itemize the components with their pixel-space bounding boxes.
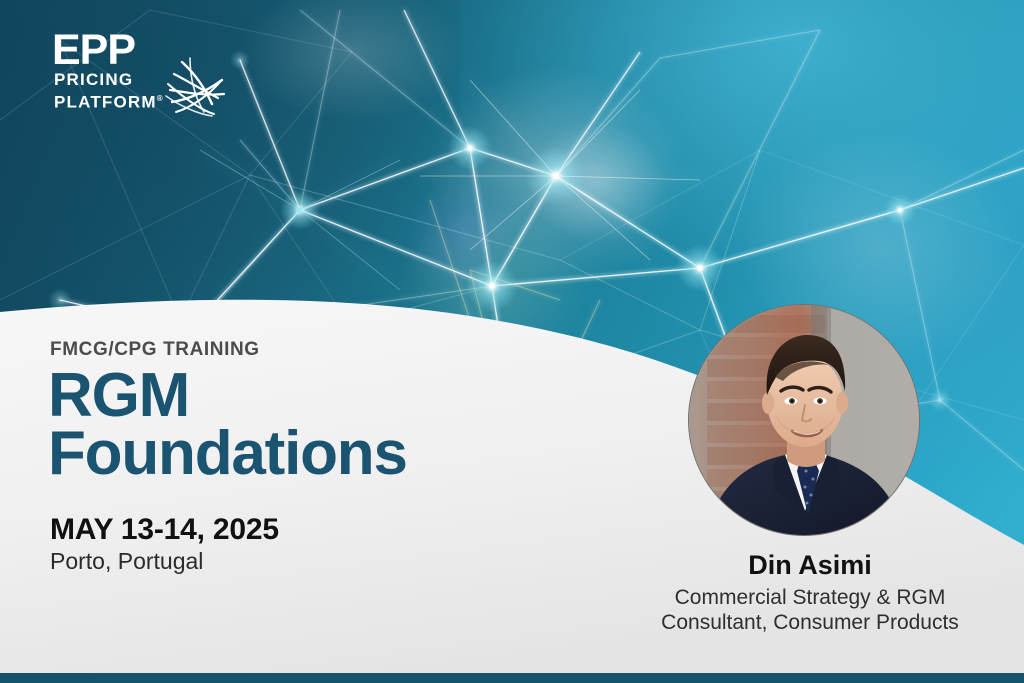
bottom-accent-bar: [0, 673, 1024, 683]
epp-pricing-platform-logo[interactable]: EPP PRICING PLATFORM®: [52, 28, 227, 110]
event-date: MAY 13-14, 2025: [50, 513, 279, 547]
speaker-avatar: [688, 304, 920, 536]
logo-subline-1: PRICING: [54, 70, 133, 89]
logo-wordmark: EPP: [52, 28, 135, 72]
logo-subline-2: PLATFORM: [54, 93, 157, 112]
speaker-role: Commercial Strategy & RGM Consultant, Co…: [625, 585, 995, 635]
title-line-1: RGM: [48, 367, 668, 425]
event-location: Porto, Portugal: [50, 548, 203, 575]
logo-subline: PRICING PLATFORM®: [54, 70, 164, 112]
wing-swoosh-icon: [160, 56, 232, 126]
speaker-name: Din Asimi: [620, 550, 1000, 581]
eyebrow-label: FMCG/CPG TRAINING: [50, 339, 260, 361]
title-line-2: Foundations: [48, 425, 668, 483]
page-title: RGM Foundations: [48, 367, 668, 483]
event-banner: EPP PRICING PLATFORM® FMCG/CPG TRAINING …: [0, 0, 1024, 683]
